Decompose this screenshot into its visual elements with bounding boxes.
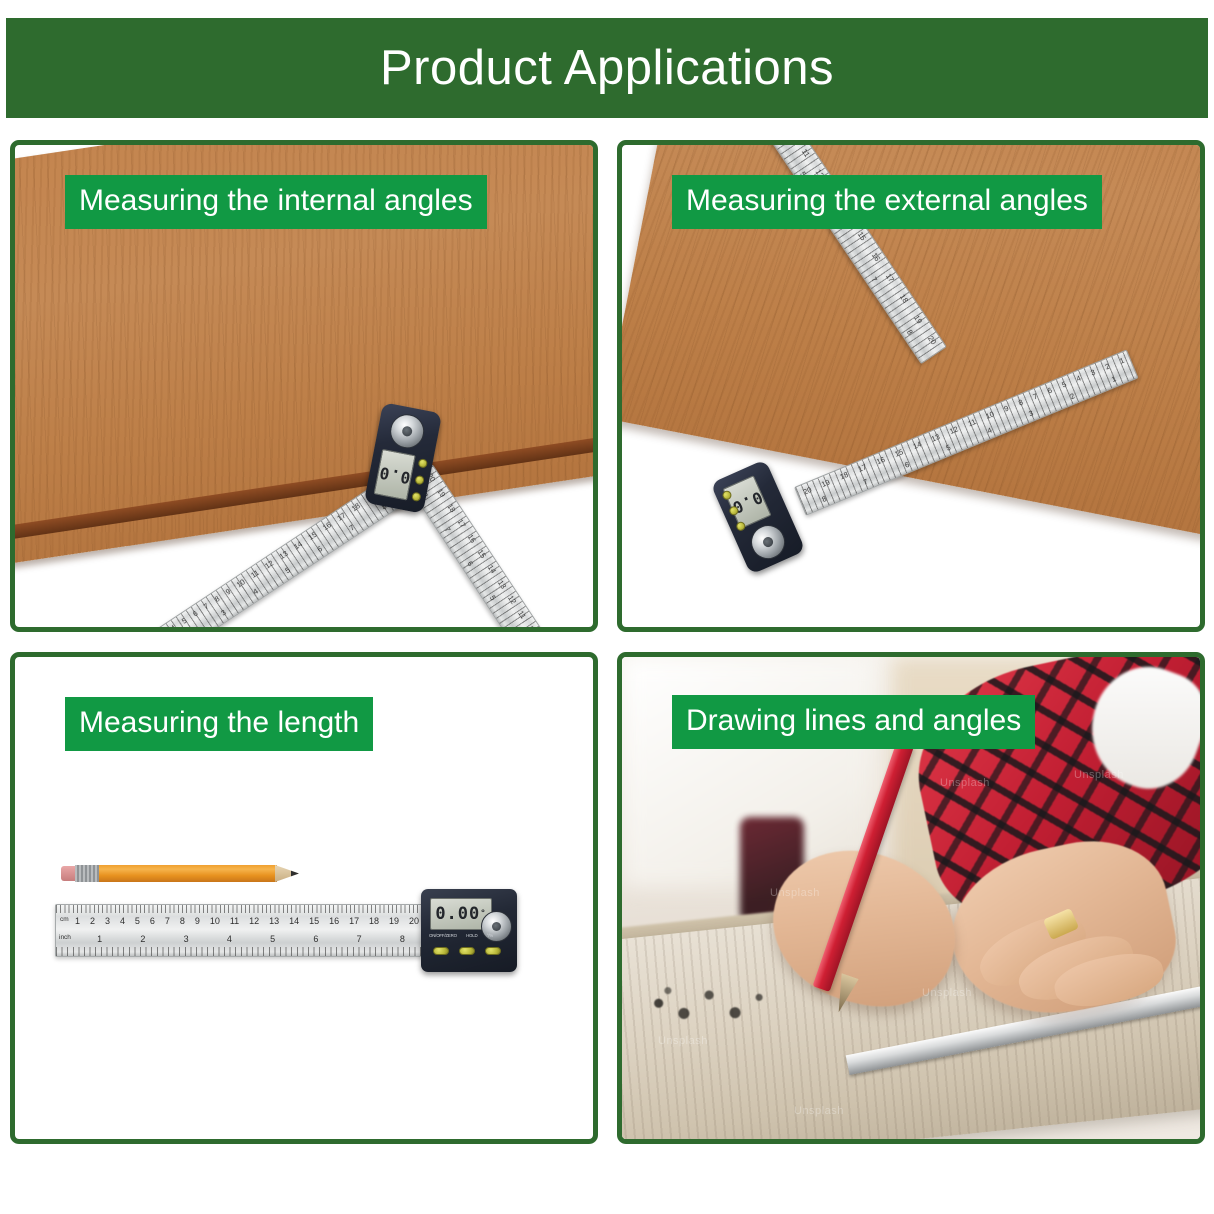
panel-internal-angles-image: 12345 678910 1112131415 1617181920 1234 … (15, 145, 593, 627)
panel-internal-angles: 12345 678910 1112131415 1617181920 1234 … (10, 140, 598, 632)
pencil-ferrule (75, 865, 101, 882)
device-button-unit[interactable] (485, 947, 501, 955)
pencil (61, 865, 299, 882)
device-button-hold[interactable] (459, 947, 475, 955)
page-title: Product Applications (380, 44, 834, 93)
pivot-knob-icon[interactable] (746, 520, 791, 565)
device-button-2[interactable] (414, 475, 425, 486)
panel-external-angles: 89101112 1314151617 181920 45678 2019181… (617, 140, 1205, 632)
ruler-ticks-bottom (56, 947, 424, 956)
pencil-tip (275, 865, 299, 882)
lcd-number: 0.00 (435, 906, 480, 923)
lcd-display: 90.00 (723, 475, 772, 529)
panel-measuring-length-image: cm 12345 678910 1112131415 1617181920 in… (15, 657, 593, 1139)
caption-internal-angles: Measuring the internal angles (65, 175, 487, 229)
panel-external-angles-image: 89101112 1314151617 181920 45678 2019181… (622, 145, 1200, 627)
ruler-scale-inch: 1234 5678 (56, 932, 424, 945)
digital-angle-finder-head[interactable]: 0.00° ON/OFF/ZERO HOLD °/% (421, 889, 517, 972)
lcd-value: 90.00 (375, 450, 415, 499)
header-banner: Product Applications (6, 18, 1208, 118)
steel-ruler: cm 12345 678910 1112131415 1617181920 in… (55, 904, 425, 957)
device-button-labels: ON/OFF/ZERO HOLD °/% (429, 933, 493, 938)
infographic-page: Product Applications 12345 678910 111213… (0, 0, 1214, 1214)
caption-measuring-length: Measuring the length (65, 697, 373, 751)
button-label-power: ON/OFF/ZERO (429, 933, 457, 938)
device-button-power[interactable] (433, 947, 449, 955)
device-button-1[interactable] (418, 458, 429, 469)
ruler-scale-cm: 12345 678910 1112131415 1617181920 (56, 914, 424, 927)
panel-drawing-lines-angles-image: Unsplash Unsplash Unsplash Unsplash Unsp… (622, 657, 1200, 1139)
lcd-value: 90.00 (724, 476, 770, 527)
panel-measuring-length: cm 12345 678910 1112131415 1617181920 in… (10, 652, 598, 1144)
device-button-3[interactable] (411, 491, 422, 502)
pivot-knob-icon[interactable] (387, 411, 427, 451)
panel-drawing-lines-angles: Unsplash Unsplash Unsplash Unsplash Unsp… (617, 652, 1205, 1144)
lcd-display: 90.00 (374, 449, 416, 501)
caption-external-angles: Measuring the external angles (672, 175, 1102, 229)
pencil-lead (291, 865, 299, 882)
button-label-unit: °/% (487, 933, 493, 938)
pencil-body (99, 865, 277, 882)
caption-drawing-lines-angles: Drawing lines and angles (672, 695, 1035, 749)
button-label-hold: HOLD (466, 933, 477, 938)
ruler-ticks-top (56, 905, 424, 913)
digital-angle-finder-head[interactable]: 90.00 (710, 459, 805, 575)
